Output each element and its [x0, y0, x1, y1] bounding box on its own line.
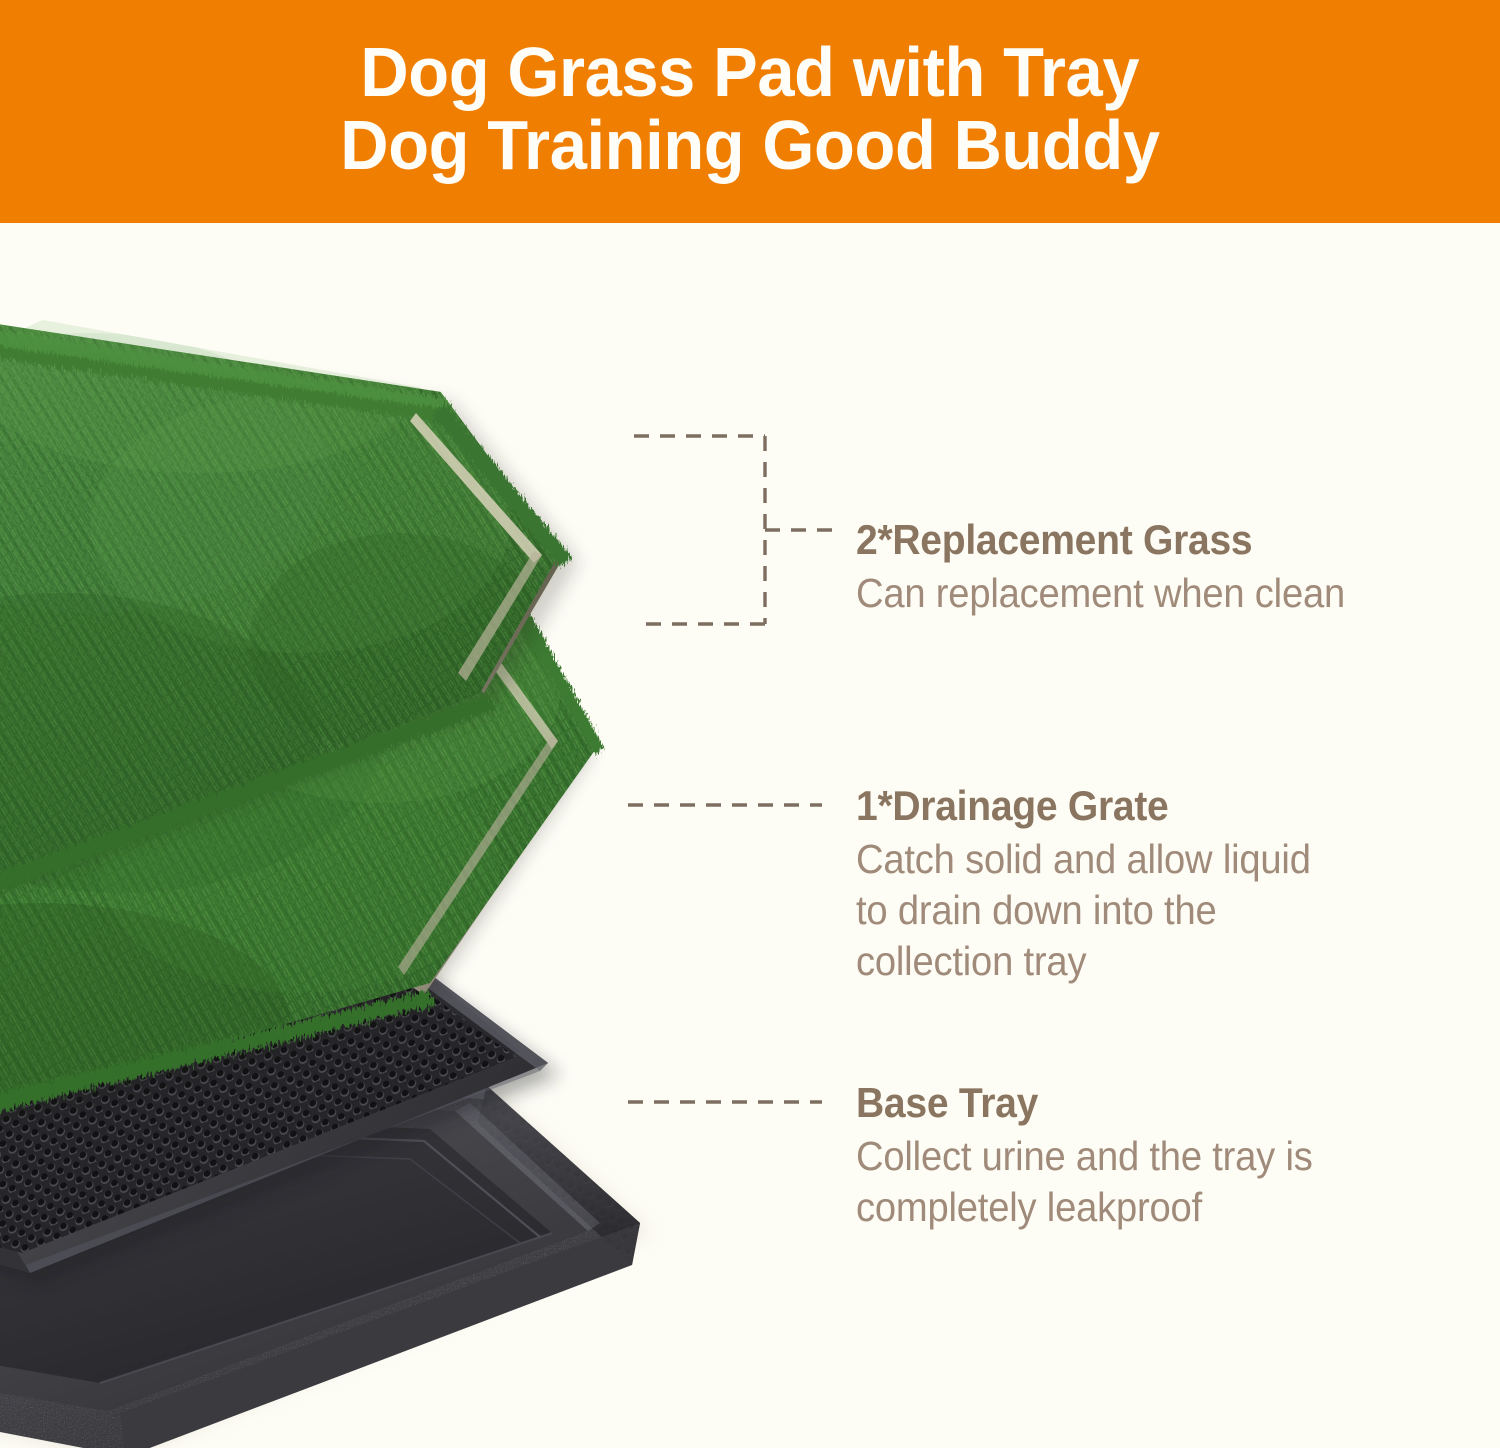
- callout-base-tray-body-line-2: completely leakproof: [856, 1182, 1433, 1233]
- callout-replacement-grass-body-line-1: Can replacement when clean: [856, 568, 1433, 619]
- callout-base-tray: Base Tray Collect urine and the tray is …: [856, 1079, 1476, 1233]
- product-photo: [0, 223, 700, 1448]
- product-infographic: Dog Grass Pad with Tray Dog Training Goo…: [0, 0, 1500, 1448]
- callout-replacement-grass-body: Can replacement when clean: [856, 568, 1433, 619]
- callout-base-tray-body: Collect urine and the tray is completely…: [856, 1131, 1433, 1234]
- callout-drainage-grate-body-line-1: Catch solid and allow liquid: [856, 834, 1433, 885]
- callout-drainage-grate-body-line-3: collection tray: [856, 936, 1433, 987]
- callout-base-tray-heading: Base Tray: [856, 1079, 1433, 1127]
- title-line-1: Dog Grass Pad with Tray: [361, 36, 1140, 108]
- title-line-2: Dog Training Good Buddy: [340, 109, 1159, 181]
- callout-replacement-grass: 2*Replacement Grass Can replacement when…: [856, 516, 1476, 619]
- callout-drainage-grate-body: Catch solid and allow liquid to drain do…: [856, 834, 1433, 988]
- callout-base-tray-body-line-1: Collect urine and the tray is: [856, 1131, 1433, 1182]
- callout-drainage-grate-body-line-2: to drain down into the: [856, 885, 1433, 936]
- callout-drainage-grate-heading: 1*Drainage Grate: [856, 782, 1433, 830]
- callout-replacement-grass-heading: 2*Replacement Grass: [856, 516, 1433, 564]
- connector-line-drainage-grate: [626, 795, 836, 815]
- callout-drainage-grate: 1*Drainage Grate Catch solid and allow l…: [856, 782, 1476, 988]
- connector-bracket-replacement-grass: [620, 420, 850, 640]
- header-banner: Dog Grass Pad with Tray Dog Training Goo…: [0, 0, 1500, 223]
- connector-line-base-tray: [626, 1092, 836, 1112]
